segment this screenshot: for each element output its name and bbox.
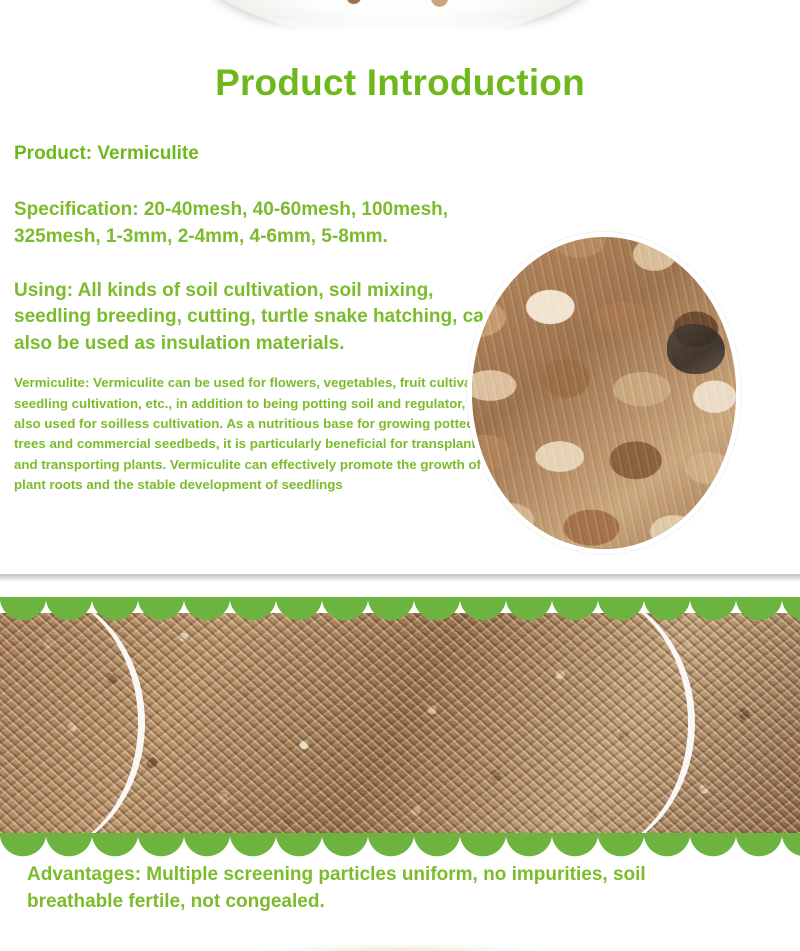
scallop-border-top <box>0 597 800 621</box>
band-top-shadow <box>0 574 800 582</box>
granule-texture <box>0 613 800 833</box>
top-plate-image <box>0 0 800 34</box>
specification-line: Specification: 20-40mesh, 40-60mesh, 100… <box>14 197 514 251</box>
dark-flake <box>667 324 725 374</box>
using-line: Using: All kinds of soil cultivation, so… <box>14 278 514 358</box>
product-introduction-section: Product Introduction Product: Vermiculit… <box>0 34 800 574</box>
flake-layer-lines <box>472 237 736 549</box>
intro-text-block: Product: Vermiculite Specification: 20-4… <box>14 142 514 495</box>
scallop-border-bottom <box>0 833 800 857</box>
page-title: Product Introduction <box>0 62 800 104</box>
next-section-hint <box>255 944 545 951</box>
vermiculite-grades-band <box>0 574 800 849</box>
vermiculite-flakes-photo <box>467 232 741 554</box>
description-paragraph: Vermiculite: Vermiculite can be used for… <box>14 373 500 495</box>
product-name-line: Product: Vermiculite <box>14 142 514 167</box>
advantages-text: Advantages: Multiple screening particles… <box>27 862 747 916</box>
top-strip-fade <box>0 18 800 34</box>
granules-photo <box>0 613 800 833</box>
product-introduction-page: { "colors": { "title_green": "#6FB81C", … <box>0 0 800 951</box>
